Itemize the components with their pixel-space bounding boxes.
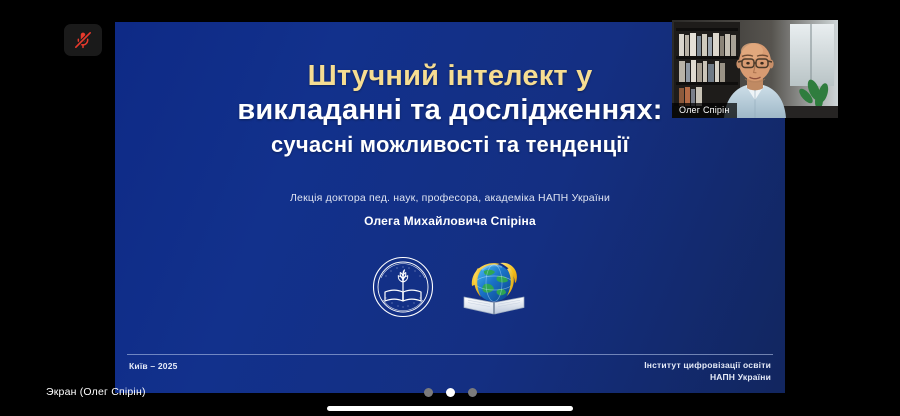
home-indicator[interactable] — [327, 406, 573, 411]
participant-video-tile[interactable]: Олег Спірін — [672, 20, 838, 118]
slide-footer-place-year: Київ – 2025 — [129, 357, 178, 371]
slide-subtitle: сучасні можливості та тенденції — [115, 132, 785, 158]
napn-emblem-logo — [372, 256, 434, 323]
microphone-muted-icon — [73, 30, 93, 50]
lecturer-info: Лекція доктора пед. наук, професора, ака… — [290, 190, 610, 232]
slide-logos — [372, 256, 528, 323]
page-dot-3[interactable] — [468, 388, 477, 397]
iitzn-globe-book-logo — [460, 256, 528, 323]
screen-share-viewer: Штучний інтелект у викладанні та дослідж… — [0, 0, 900, 416]
slide-footer-institute: Інститут цифровізації освіти НАПН Україн… — [644, 357, 771, 384]
slide-footer-institute-line-2: НАПН України — [644, 371, 771, 383]
page-indicator[interactable] — [0, 388, 900, 397]
slide-footer: Київ – 2025 Інститут цифровізації освіти… — [129, 357, 771, 385]
slide-footer-institute-line-1: Інститут цифровізації освіти — [644, 359, 771, 371]
participant-name-label: Олег Спірін — [672, 103, 737, 118]
lecturer-name: Олега Михайловича Спіріна — [290, 212, 610, 231]
lecturer-role: Лекція доктора пед. наук, професора, ака… — [290, 190, 610, 207]
page-dot-2[interactable] — [446, 388, 455, 397]
microphone-muted-indicator[interactable] — [64, 24, 102, 56]
slide-footer-divider — [127, 354, 773, 355]
page-dot-1[interactable] — [424, 388, 433, 397]
